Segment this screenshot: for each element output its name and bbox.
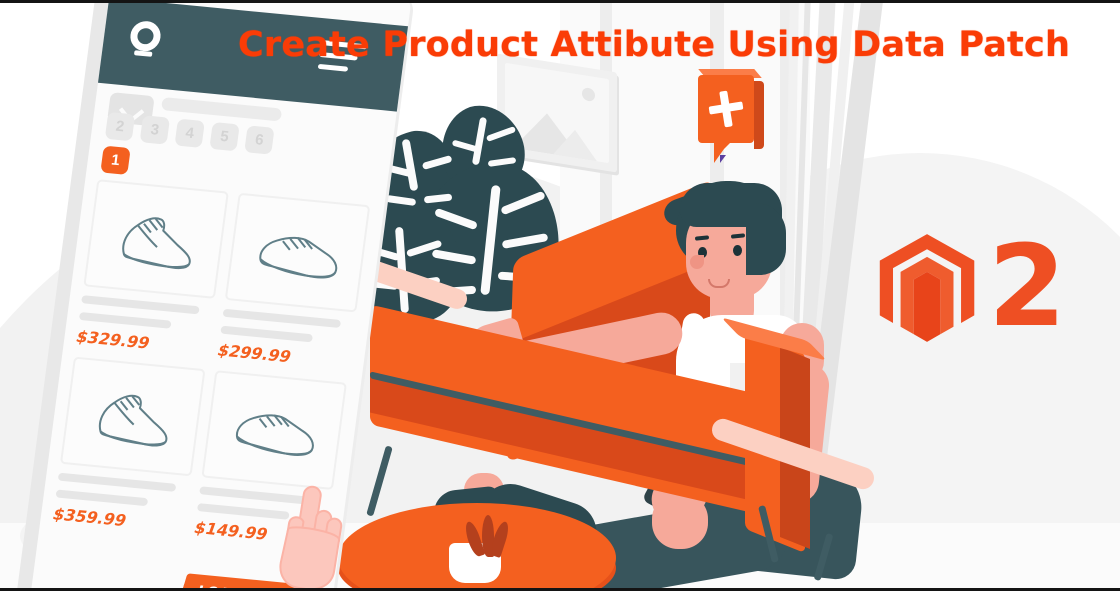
product-line — [223, 309, 342, 328]
product-thumbnail — [83, 179, 229, 299]
product-line — [81, 295, 200, 314]
eye — [733, 245, 742, 256]
product-line — [197, 503, 290, 520]
product-price: $149.99 — [192, 518, 271, 543]
page-title: Create Product Attibute Using Data Patch — [238, 25, 1068, 65]
product-thumbnail — [201, 370, 347, 490]
sun-dot — [582, 87, 595, 102]
pagination-item[interactable]: 2 — [105, 112, 135, 141]
magento-o-logo-stem — [134, 50, 153, 57]
pagination-item[interactable]: 4 — [174, 119, 204, 148]
product-line — [220, 326, 313, 343]
nose — [690, 255, 704, 269]
product-thumbnail — [225, 193, 371, 313]
product-price: $329.99 — [73, 327, 152, 352]
pagination-item[interactable]: 3 — [140, 115, 170, 144]
product-card[interactable]: $299.99 — [217, 193, 371, 373]
sneaker-outline-icon — [243, 212, 352, 293]
product-price: $359.99 — [50, 505, 129, 530]
product-line — [56, 489, 149, 506]
badge-tail-accent — [720, 155, 726, 163]
magento-hexagon-icon — [876, 229, 978, 347]
product-line — [58, 473, 177, 492]
sneaker-outline-icon — [220, 390, 329, 471]
product-thumbnail — [60, 357, 206, 477]
pagination-item[interactable]: 5 — [209, 122, 239, 151]
add-attribute-badge — [698, 75, 760, 153]
product-line — [79, 312, 172, 329]
pagination-item[interactable]: 6 — [244, 125, 274, 154]
sneaker-outline-icon — [78, 376, 187, 457]
sneaker-outline-icon — [102, 199, 211, 280]
right-hand — [652, 493, 708, 549]
magento-o-logo-icon — [129, 20, 163, 53]
magento-2-logo: 2 — [876, 229, 1066, 347]
product-card[interactable]: $359.99 — [52, 357, 206, 537]
magento-version-number: 2 — [988, 240, 1066, 335]
sofa-leg — [366, 445, 393, 516]
pagination-item-active[interactable]: 1 — [100, 146, 130, 175]
illustration-banner: 4G 2 3 4 5 6 1 — [0, 0, 1120, 591]
product-card[interactable]: $329.99 — [75, 179, 229, 359]
badge-side-face — [754, 81, 764, 149]
product-price: $299.99 — [215, 341, 294, 366]
